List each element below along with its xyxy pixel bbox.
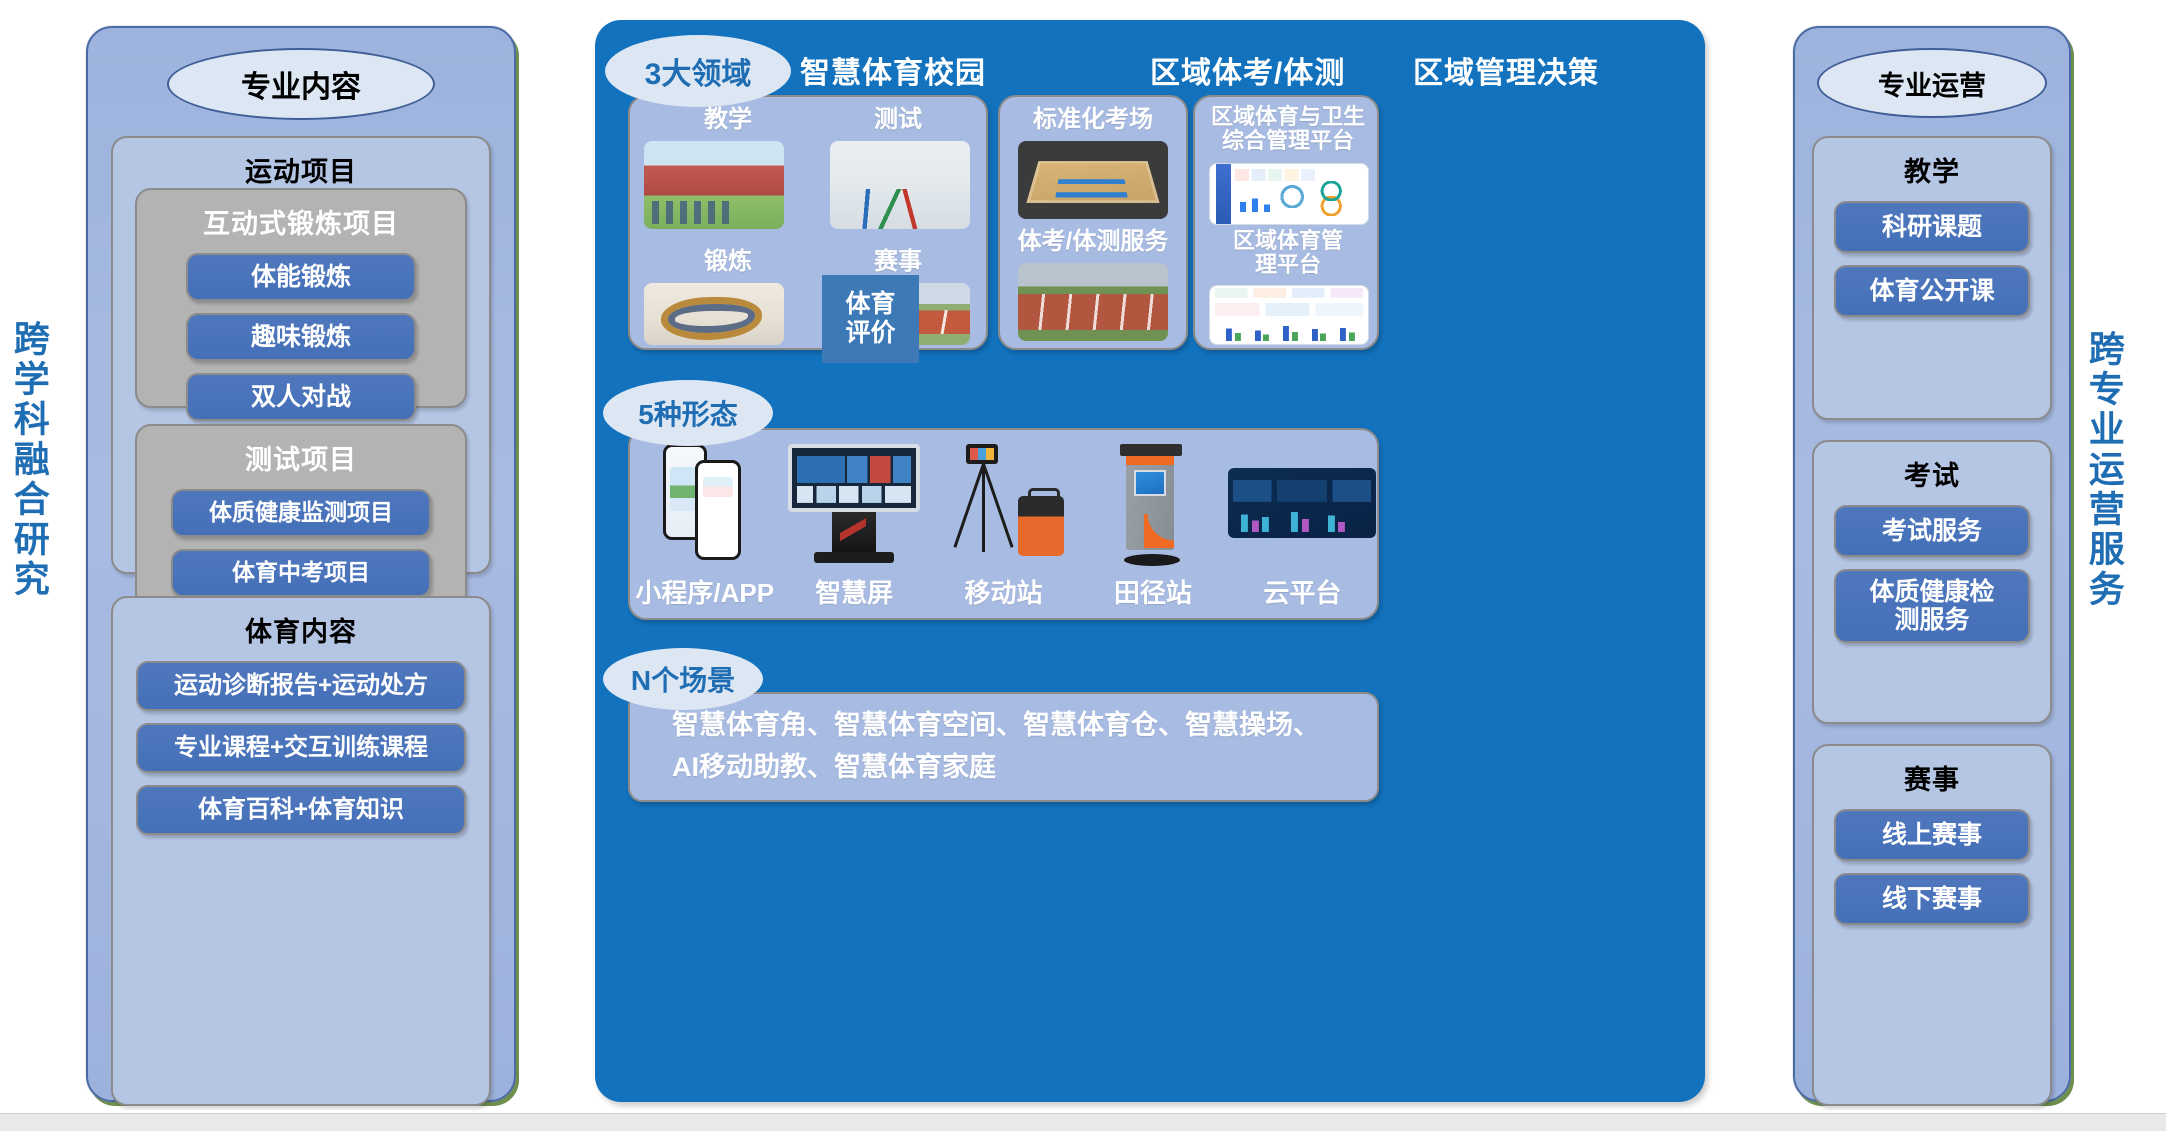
phones-icon (663, 444, 747, 554)
group-title-examination: 考试 (1814, 454, 2050, 493)
group-sports-programs: 运动项目 互动式锻炼项目 体能锻炼 趣味锻炼 双人对战 测试项目 体质健康监测项… (111, 136, 491, 574)
chip-exercise-diagnosis-report[interactable]: 运动诊断报告+运动处方 (136, 661, 466, 711)
testing-photo (830, 141, 970, 229)
mobile-station-icon (944, 444, 1064, 566)
chip-open-pe-class[interactable]: 体育公开课 (1834, 265, 2030, 317)
smart-screen-icon (788, 444, 920, 566)
group-title-sports-programs: 运动项目 (113, 150, 489, 189)
tile-label-standard-venue: 标准化考场 (1000, 107, 1186, 133)
subgroup-test-programs: 测试项目 体质健康监测项目 体育中考项目 (135, 424, 467, 610)
tile-label-testing: 测试 (828, 107, 968, 133)
form-item-mobile-station[interactable]: 移动站 (929, 430, 1078, 618)
chip-pe-exam-program[interactable]: 体育中考项目 (171, 549, 431, 597)
card-n-scenes: 智慧体育角、智慧体育空间、智慧体育仓、智慧操场、 AI移动助教、智慧体育家庭 (628, 692, 1379, 802)
dashboard-photo-1 (1209, 163, 1369, 225)
right-panel-professional-operation: 专业运营 教学 科研课题 体育公开课 考试 考试服务 体质健康检 测服务 赛事 … (1793, 26, 2071, 1102)
chip-online-competition[interactable]: 线上赛事 (1834, 809, 2030, 861)
heading-regional-management: 区域管理决策 (1413, 48, 1599, 92)
form-label-miniprogram-app: 小程序/APP (635, 573, 774, 610)
vertical-label-right: 跨专业运营服务 (2085, 330, 2123, 610)
badge-five-forms: 5种形态 (603, 380, 773, 446)
tile-label-exam-service: 体考/体测服务 (1000, 229, 1186, 255)
heading-regional-exam: 区域体考/体测 (1150, 48, 1345, 92)
exercise-photo (644, 283, 784, 345)
chip-sports-encyclopedia[interactable]: 体育百科+体育知识 (136, 785, 466, 835)
heading-smart-sports-campus: 智慧体育校园 (800, 48, 986, 92)
form-item-field-kiosk[interactable]: 田径站 (1078, 430, 1227, 618)
chip-professional-courses[interactable]: 专业课程+交互训练课程 (136, 723, 466, 773)
badge-three-domains: 3大领域 (605, 35, 791, 107)
tile-label-teaching: 教学 (658, 107, 798, 133)
tile-label-sports-platform: 区域体育管 理平台 (1195, 229, 1381, 277)
chip-fun-exercise[interactable]: 趣味锻炼 (186, 313, 416, 361)
form-item-smart-screen[interactable]: 智慧屏 (779, 430, 928, 618)
left-panel-title: 专业内容 (167, 48, 435, 120)
tile-label-exercise: 锻炼 (658, 249, 798, 275)
bottom-strip (0, 1113, 2166, 1131)
track-photo (1018, 263, 1168, 341)
group-title-sports-content: 体育内容 (113, 610, 489, 649)
group-sports-content: 体育内容 运动诊断报告+运动处方 专业课程+交互训练课程 体育百科+体育知识 (111, 596, 491, 1106)
form-label-cloud-platform: 云平台 (1263, 573, 1341, 610)
scenes-text: 智慧体育角、智慧体育空间、智慧体育仓、智慧操场、 AI移动助教、智慧体育家庭 (672, 705, 1320, 789)
card-five-forms: 小程序/APP 智慧屏 移动站 (628, 428, 1379, 620)
group-examination: 考试 考试服务 体质健康检 测服务 (1812, 440, 2052, 724)
vertical-label-left: 跨学科融合研究 (10, 320, 48, 600)
subgroup-title-interactive-exercise: 互动式锻炼项目 (137, 202, 465, 241)
chip-fitness-health-test-service[interactable]: 体质健康检 测服务 (1834, 569, 2030, 643)
chip-physical-exercise[interactable]: 体能锻炼 (186, 253, 416, 301)
diagram-canvas: 跨学科融合研究 专业内容 运动项目 互动式锻炼项目 体能锻炼 趣味锻炼 双人对战… (0, 0, 2166, 1130)
chip-fitness-health-monitoring[interactable]: 体质健康监测项目 (171, 489, 431, 537)
card-smart-sports-campus: 教学 测试 锻炼 赛事 (628, 95, 988, 350)
form-label-mobile-station: 移动站 (965, 573, 1043, 610)
field-kiosk-icon (1118, 444, 1188, 566)
right-panel-title: 专业运营 (1817, 48, 2047, 118)
subgroup-interactive-exercise: 互动式锻炼项目 体能锻炼 趣味锻炼 双人对战 (135, 188, 467, 408)
subgroup-title-test-programs: 测试项目 (137, 438, 465, 477)
badge-n-scenes: N个场景 (603, 648, 763, 710)
form-label-field-kiosk: 田径站 (1114, 573, 1192, 610)
chip-offline-competition[interactable]: 线下赛事 (1834, 873, 2030, 925)
chip-exam-service[interactable]: 考试服务 (1834, 505, 2030, 557)
card-regional-exam: 标准化考场 体考/体测服务 (998, 95, 1188, 350)
center-panel-platform: 3大领域 5种形态 N个场景 智慧体育校园 区域体考/体测 区域管理决策 教学 … (595, 20, 1705, 1102)
cloud-dashboard-icon (1228, 444, 1376, 566)
tile-label-event: 赛事 (828, 249, 968, 275)
tile-sports-evaluation: 体育 评价 (822, 275, 919, 363)
group-title-competitions: 赛事 (1814, 758, 2050, 797)
tile-label-health-platform: 区域体育与卫生 综合管理平台 (1195, 105, 1381, 153)
group-competitions: 赛事 线上赛事 线下赛事 (1812, 744, 2052, 1106)
left-panel-professional-content: 专业内容 运动项目 互动式锻炼项目 体能锻炼 趣味锻炼 双人对战 测试项目 体质… (86, 26, 516, 1102)
form-label-smart-screen: 智慧屏 (815, 573, 893, 610)
venue-photo (1018, 141, 1168, 219)
group-teaching: 教学 科研课题 体育公开课 (1812, 136, 2052, 420)
teaching-photo (644, 141, 784, 229)
dashboard-photo-2 (1209, 285, 1369, 345)
chip-research-topic[interactable]: 科研课题 (1834, 201, 2030, 253)
form-item-cloud-platform[interactable]: 云平台 (1228, 430, 1377, 618)
group-title-teaching: 教学 (1814, 150, 2050, 189)
form-item-miniprogram-app[interactable]: 小程序/APP (630, 430, 779, 618)
chip-two-player-battle[interactable]: 双人对战 (186, 373, 416, 421)
card-regional-management: 区域体育与卫生 综合管理平台 区域体育管 理平台 (1193, 95, 1379, 350)
